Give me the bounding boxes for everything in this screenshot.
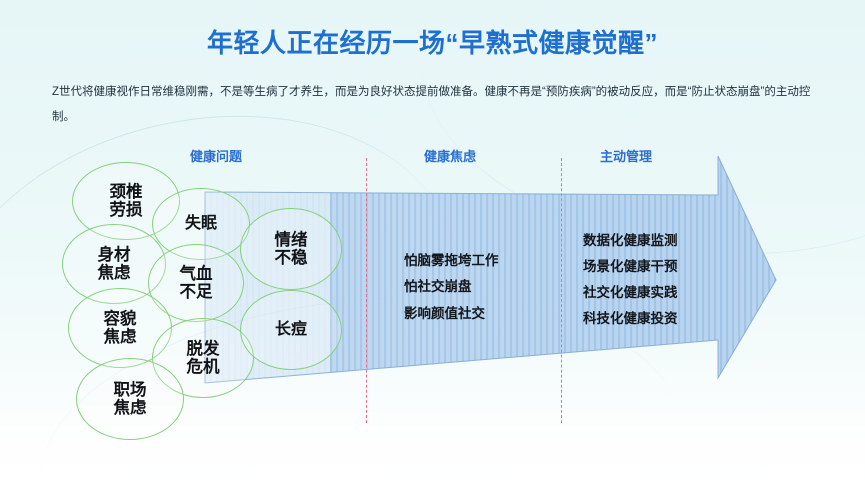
stage-divider-1 (366, 158, 367, 423)
problem-bubble-label: 气血 不足 (180, 265, 213, 302)
anxiety-list-item: 影响颜值社交 (404, 301, 554, 327)
problem-bubble-label: 长痘 (275, 321, 307, 339)
management-list: 数据化健康监测 场景化健康干预 社交化健康实践 科技化健康投资 (583, 228, 733, 332)
column-header-health-anxiety: 健康焦虑 (424, 146, 476, 165)
problem-bubble-label: 脱发 危机 (187, 340, 220, 377)
problem-bubble: 职场 焦虑 (76, 358, 184, 440)
column-header-health-problems: 健康问题 (190, 146, 242, 165)
problem-bubble-label: 职场 焦虑 (114, 381, 147, 418)
page-title: 年轻人正在经历一场“早熟式健康觉醒” (0, 23, 865, 60)
management-list-item: 科技化健康投资 (583, 306, 733, 332)
problem-bubble-label: 颈椎 劳损 (110, 183, 143, 220)
problem-bubble-label: 容貌 焦虑 (104, 310, 137, 347)
stage-divider-2 (561, 158, 562, 423)
funnel-diagram: 健康问题 健康焦虑 主动管理 颈椎 劳损 失眠 身材 焦虑 气血 不足 情绪 不… (0, 140, 865, 440)
anxiety-list-item: 怕脑雾拖垮工作 (404, 248, 554, 274)
problem-bubble: 长痘 (240, 290, 342, 370)
column-header-active-management: 主动管理 (600, 146, 652, 165)
page-subtitle: Z世代将健康视作日常维稳刚需，不是等生病了才养生，而是为良好状态提前做准备。健康… (52, 80, 824, 129)
problem-bubble-label: 情绪 不稳 (275, 231, 308, 268)
anxiety-list-item: 怕社交崩盘 (404, 274, 554, 300)
management-list-item: 社交化健康实践 (583, 280, 733, 306)
problem-bubble-label: 失眠 (185, 215, 217, 233)
anxiety-list: 怕脑雾拖垮工作 怕社交崩盘 影响颜值社交 (404, 248, 554, 327)
problem-bubble-label: 身材 焦虑 (98, 246, 131, 283)
management-list-item: 数据化健康监测 (583, 228, 733, 254)
management-list-item: 场景化健康干预 (583, 254, 733, 280)
problem-bubble: 情绪 不稳 (240, 208, 342, 290)
slide-canvas: 年轻人正在经历一场“早熟式健康觉醒” Z世代将健康视作日常维稳刚需，不是等生病了… (0, 0, 865, 487)
